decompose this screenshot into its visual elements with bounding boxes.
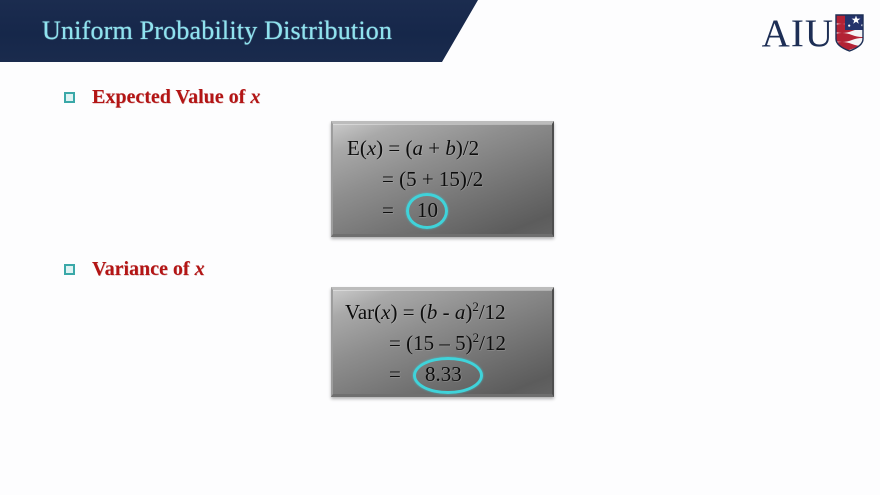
variance-formula-lines: Var(x) = (b - a)2/12 = (15 – 5)2/12 = 8.…: [333, 290, 552, 394]
formula-text: ) = (: [376, 136, 412, 160]
bullet-label-variance: Variance of x: [92, 258, 205, 281]
formula-var-b: b: [445, 136, 456, 160]
formula-text: Var(: [345, 300, 381, 324]
formula-text: = (15 – 5): [389, 331, 473, 355]
bullet-label-expected-value: Expected Value of x: [92, 86, 260, 109]
answer-highlight-circle: [413, 357, 483, 394]
bullet-variance: Variance of x: [64, 258, 205, 281]
aiu-logo: AIU: [762, 12, 866, 54]
formula-line-2: = (5 + 15)/2: [382, 167, 483, 192]
formula-text: +: [423, 136, 445, 160]
formula-line-3: =: [389, 362, 401, 387]
formula-text: )/2: [456, 136, 479, 160]
formula-text: -: [437, 300, 455, 324]
logo-wordmark: AIU: [762, 14, 834, 53]
formula-line-1: E(x) = (a + b)/2: [347, 136, 479, 161]
expected-value-formula-lines: E(x) = (a + b)/2 = (5 + 15)/2 = 10: [333, 124, 552, 234]
formula-var-a: a: [455, 300, 466, 324]
bullet-variable: x: [195, 258, 205, 280]
square-bullet-icon: [64, 264, 75, 275]
expected-value-formula-box: E(x) = (a + b)/2 = (5 + 15)/2 = 10: [331, 121, 554, 237]
formula-text: /12: [479, 300, 506, 324]
formula-var-b: b: [427, 300, 438, 324]
variance-formula-box: Var(x) = (b - a)2/12 = (15 – 5)2/12 = 8.…: [331, 287, 554, 397]
formula-var-a: a: [413, 136, 424, 160]
formula-var-x: x: [367, 136, 376, 160]
answer-highlight-circle: [406, 193, 448, 229]
page-title: Uniform Probability Distribution: [42, 16, 392, 46]
bullet-variable: x: [250, 86, 260, 108]
formula-line-2: = (15 – 5)2/12: [389, 331, 506, 356]
formula-line-1: Var(x) = (b - a)2/12: [345, 300, 506, 325]
bullet-text: Variance of: [92, 258, 195, 280]
formula-text: /12: [479, 331, 506, 355]
formula-text: E(: [347, 136, 367, 160]
square-bullet-icon: [64, 92, 75, 103]
bullet-expected-value: Expected Value of x: [64, 86, 260, 109]
bullet-text: Expected Value of: [92, 86, 250, 108]
slide-canvas: Uniform Probability Distribution AIU: [0, 0, 880, 495]
formula-text: ) = (: [390, 300, 426, 324]
formula-line-3: =: [382, 198, 394, 223]
usa-flag-shield-icon: [832, 13, 866, 53]
